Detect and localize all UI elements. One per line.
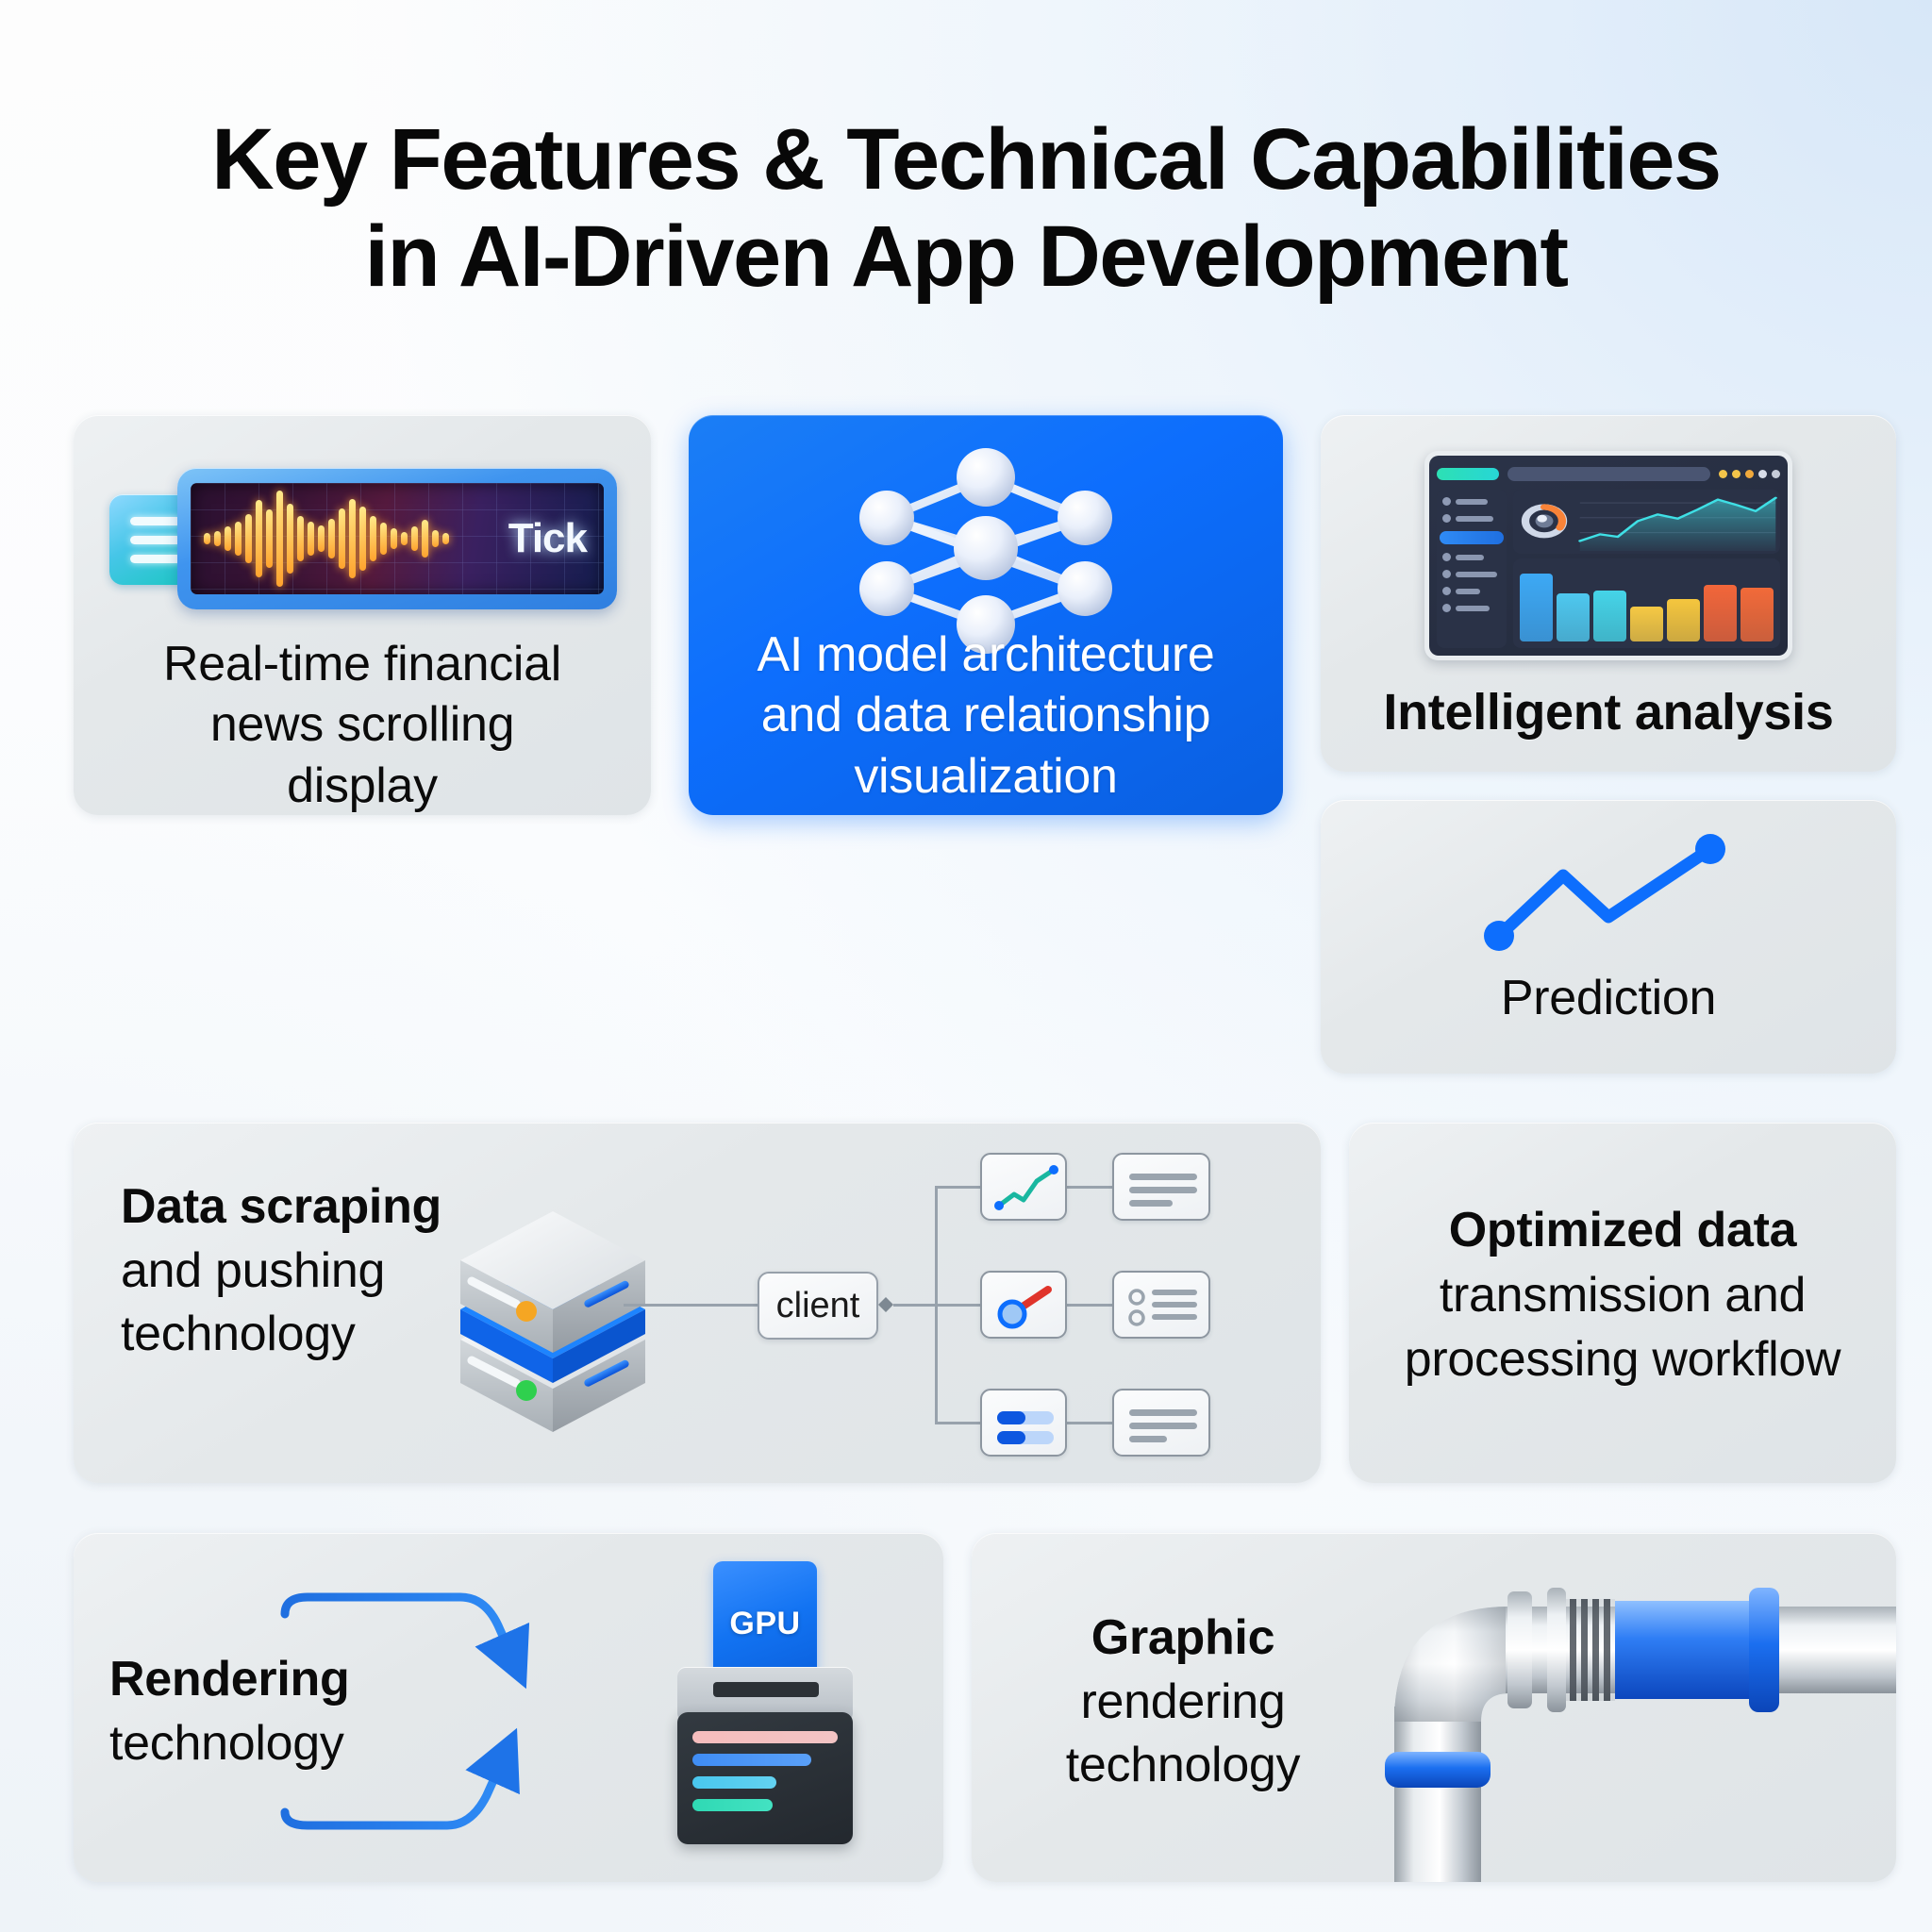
label-line-3: technology [994, 1734, 1372, 1798]
waveform-bar [287, 504, 293, 573]
card-realtime-financial-news[interactable]: Tick Real-time financial news scrolling … [74, 415, 651, 815]
label-line-1: AI model architecture [689, 625, 1283, 685]
card-label-optimized: Optimized data transmission and processi… [1349, 1198, 1896, 1392]
label-line-1: Graphic [994, 1607, 1372, 1671]
label-line-2: rendering [994, 1671, 1372, 1735]
led-ticker-display-icon: Tick [109, 462, 619, 604]
mini-card-text-1[interactable] [1112, 1153, 1210, 1221]
dashboard-area-chart [1513, 490, 1780, 554]
label-line-2: and data relationship [689, 685, 1283, 745]
waveform-bar [442, 533, 449, 544]
card-label-graphic: Graphic rendering technology [994, 1607, 1372, 1798]
card-optimized-data[interactable]: Optimized data transmission and processi… [1349, 1123, 1896, 1483]
connector-pair-mid [1067, 1304, 1112, 1307]
label-line-1: Prediction [1321, 968, 1896, 1028]
label-line-3: display [74, 756, 651, 815]
dashboard-sidebar [1437, 490, 1507, 648]
bar-4 [1630, 607, 1663, 641]
mini-card-progress[interactable] [980, 1389, 1067, 1457]
card-label-analysis: Intelligent analysis [1321, 681, 1896, 744]
client-node-label: client [776, 1286, 860, 1326]
bar-7 [1740, 588, 1774, 641]
bullet-list-icon [1114, 1273, 1212, 1341]
card-prediction[interactable]: Prediction [1321, 800, 1896, 1074]
label-line-3: processing workflow [1349, 1327, 1896, 1392]
waveform-bar [422, 520, 428, 558]
waveform-bar [328, 519, 335, 558]
connector-server-client [624, 1304, 758, 1307]
label-line-2: transmission and [1349, 1263, 1896, 1328]
branch-diamond-icon [876, 1295, 895, 1314]
dashboard-donut-chart [1525, 507, 1563, 535]
waveform-bar [204, 533, 210, 544]
waveform-bar [370, 516, 376, 560]
waveform-bar [432, 530, 439, 548]
waveform-bar [359, 507, 366, 571]
waveform-bar [380, 523, 387, 554]
gpu-body [677, 1712, 853, 1844]
label-line-1: Optimized data [1349, 1198, 1896, 1263]
waveform-bar [308, 522, 314, 555]
waveform-bar [318, 525, 325, 552]
ticker-screen: Tick [191, 483, 604, 594]
title-line-2: in AI-Driven App Development [0, 208, 1932, 306]
ticker-frame: Tick [177, 468, 617, 609]
bar-2 [1557, 593, 1590, 641]
page-title: Key Features & Technical Capabilities in… [0, 111, 1932, 306]
card-graphic-rendering[interactable]: Graphic rendering technology [972, 1533, 1896, 1882]
mini-card-text-2[interactable] [1112, 1389, 1210, 1457]
title-line-1: Key Features & Technical Capabilities [0, 111, 1932, 208]
waveform-bar [349, 499, 356, 579]
mini-card-list[interactable] [1112, 1271, 1210, 1339]
label-line-1: Real-time financial [74, 634, 651, 694]
gauge-icon [982, 1273, 1069, 1341]
dashboard-titlebar [1437, 463, 1780, 484]
connector-pair-bottom [1067, 1422, 1112, 1424]
waveform-bar [266, 509, 273, 567]
label-line-2: news scrolling [74, 694, 651, 755]
client-node[interactable]: client [758, 1272, 878, 1340]
waveform-bar [339, 508, 345, 569]
connector-branch-top [935, 1186, 980, 1189]
bar-3 [1593, 591, 1626, 641]
card-label-scraping: Data scraping and pushing technology [121, 1175, 479, 1367]
waveform-bars-icon [204, 483, 458, 594]
label-line-2: and pushing [121, 1240, 479, 1304]
card-intelligent-analysis[interactable]: Intelligent analysis [1321, 415, 1896, 772]
bar-1 [1520, 574, 1553, 641]
card-rendering-technology[interactable]: Rendering technology GPU [74, 1533, 943, 1882]
gpu-label-text: GPU [729, 1606, 800, 1642]
card-ai-model-architecture[interactable]: AI model architecture and data relations… [689, 415, 1283, 815]
dashboard-bar-chart [1513, 558, 1780, 648]
bar-5 [1667, 599, 1700, 641]
elbow-pipe-icon [1368, 1533, 1896, 1882]
waveform-bar [391, 528, 397, 548]
bar-6 [1704, 585, 1737, 641]
label-line-3: visualization [689, 746, 1283, 807]
card-label-realtime: Real-time financial news scrolling displ… [74, 634, 651, 815]
label-line-3: technology [121, 1303, 479, 1367]
mini-card-line-chart[interactable] [980, 1153, 1067, 1221]
progress-bars-icon [982, 1391, 1069, 1458]
trend-line-chart-icon [1476, 830, 1740, 962]
connector-branch-mid [935, 1304, 980, 1307]
ticker-screen-text: Tick [508, 515, 587, 562]
mini-card-gauge[interactable] [980, 1271, 1067, 1339]
connector-branch-trunk [893, 1304, 937, 1307]
waveform-bar [245, 514, 252, 563]
card-data-scraping[interactable]: Data scraping and pushing technology [74, 1123, 1321, 1483]
waveform-bar [411, 526, 418, 551]
waveform-bar [401, 532, 408, 545]
label-line-1: Intelligent analysis [1321, 681, 1896, 744]
gpu-card-icon: GPU [664, 1561, 862, 1844]
label-line-1: Data scraping [121, 1175, 479, 1240]
card-label-ai: AI model architecture and data relations… [689, 625, 1283, 807]
waveform-bar [214, 531, 221, 547]
card-label-prediction: Prediction [1321, 968, 1896, 1028]
waveform-bar [276, 491, 283, 586]
waveform-bar [235, 522, 241, 555]
flow-arrows-icon [262, 1573, 658, 1846]
waveform-bar [225, 526, 231, 551]
analytics-dashboard-icon [1424, 451, 1792, 660]
text-lines-icon [1114, 1391, 1212, 1458]
connector-branch-bottom [935, 1422, 980, 1424]
waveform-bar [297, 516, 304, 560]
text-lines-icon [1114, 1155, 1212, 1223]
waveform-bar [256, 500, 262, 578]
sidebar-item-active[interactable] [1440, 531, 1504, 544]
connector-pair-top [1067, 1186, 1112, 1189]
flow-diagram: client [503, 1141, 1314, 1467]
mini-line-chart-icon [982, 1155, 1069, 1223]
